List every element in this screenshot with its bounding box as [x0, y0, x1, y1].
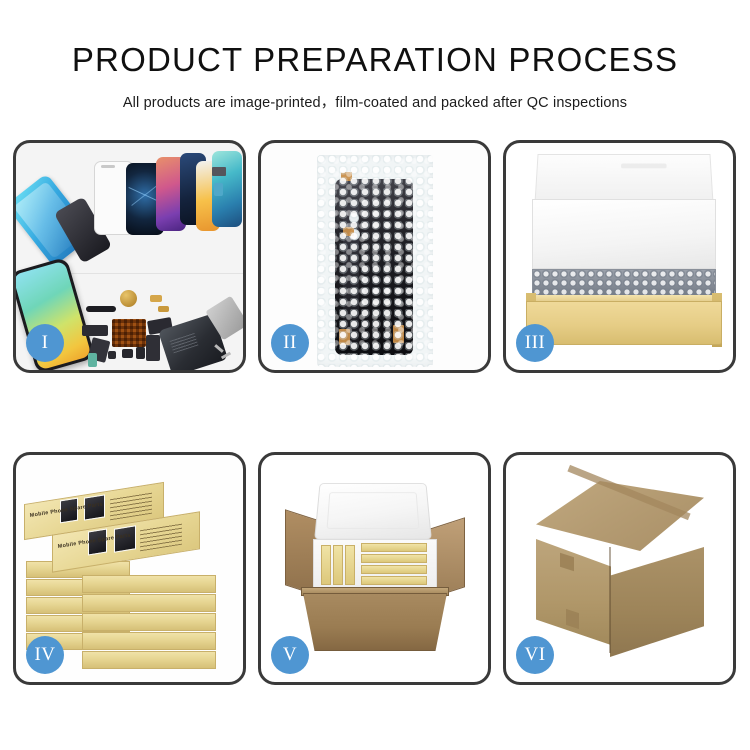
- page-title: PRODUCT PREPARATION PROCESS: [0, 42, 750, 78]
- stacked-box-right-1: [82, 575, 216, 593]
- part-gold-connector-1: [150, 295, 162, 302]
- page-subtitle: All products are image-printed，film-coat…: [0, 91, 750, 112]
- styrofoam-lid: [314, 483, 432, 540]
- part-battery-cell: [214, 183, 223, 196]
- part-flex-cable-1: [82, 325, 108, 336]
- part-screws: [214, 347, 232, 361]
- yellow-box-flat-2: [361, 554, 427, 563]
- yellow-box-vertical-3: [345, 545, 355, 585]
- part-flex-strip: [86, 306, 116, 312]
- process-step-card-3: III: [503, 140, 736, 373]
- process-step-card-4: Mobile Phone Spare Parts Mobile Phone Sp…: [13, 452, 246, 685]
- part-green-module: [88, 353, 97, 367]
- process-step-card-2: II: [258, 140, 491, 373]
- white-foam-sheet: [532, 199, 716, 269]
- step-badge-4: IV: [26, 636, 64, 674]
- bubble-texture-small: [317, 155, 433, 367]
- process-step-card-6: VI: [503, 452, 736, 685]
- box-lid-open: [534, 154, 713, 205]
- process-step-card-5: V: [258, 452, 491, 685]
- part-ic-chip-2: [136, 347, 145, 359]
- stacked-box-right-2: [82, 594, 216, 612]
- part-gold-connector-2: [158, 306, 169, 312]
- carton-left-panel: [536, 539, 611, 645]
- part-ic-chip-3: [108, 351, 116, 359]
- box-lid-tab: [621, 164, 667, 169]
- part-ic-chip-1: [122, 349, 133, 358]
- step-badge-1: I: [26, 324, 64, 362]
- carton-right-panel: [610, 547, 704, 657]
- bubble-wrap-bag: [317, 155, 433, 367]
- stacked-box-right-5: [82, 651, 216, 669]
- stacked-box-right-4: [82, 632, 216, 650]
- step-badge-6: VI: [516, 636, 554, 674]
- step-badge-3: III: [516, 324, 554, 362]
- part-speaker-coin: [120, 290, 137, 307]
- process-step-card-1: I: [13, 140, 246, 373]
- process-step-grid: I II: [13, 140, 737, 685]
- part-flex-cable-4: [146, 335, 160, 361]
- yellow-box-vertical-2: [333, 545, 343, 585]
- yellow-box-flat-3: [361, 565, 427, 574]
- product-preparation-page: PRODUCT PREPARATION PROCESS All products…: [0, 0, 750, 750]
- carton-front-panel: [303, 593, 447, 651]
- carton-vertical-edge: [609, 547, 611, 653]
- part-chip-array: [112, 319, 146, 347]
- yellow-box-vertical-1: [321, 545, 331, 585]
- step-badge-2: II: [271, 324, 309, 362]
- stacked-box-right-3: [82, 613, 216, 631]
- yellow-box-flat-4: [361, 576, 427, 585]
- page-header: PRODUCT PREPARATION PROCESS All products…: [0, 0, 750, 112]
- part-camera-module: [212, 167, 226, 176]
- yellow-box-flat-1: [361, 543, 427, 552]
- kraft-box-front: [526, 301, 722, 345]
- step-badge-5: V: [271, 636, 309, 674]
